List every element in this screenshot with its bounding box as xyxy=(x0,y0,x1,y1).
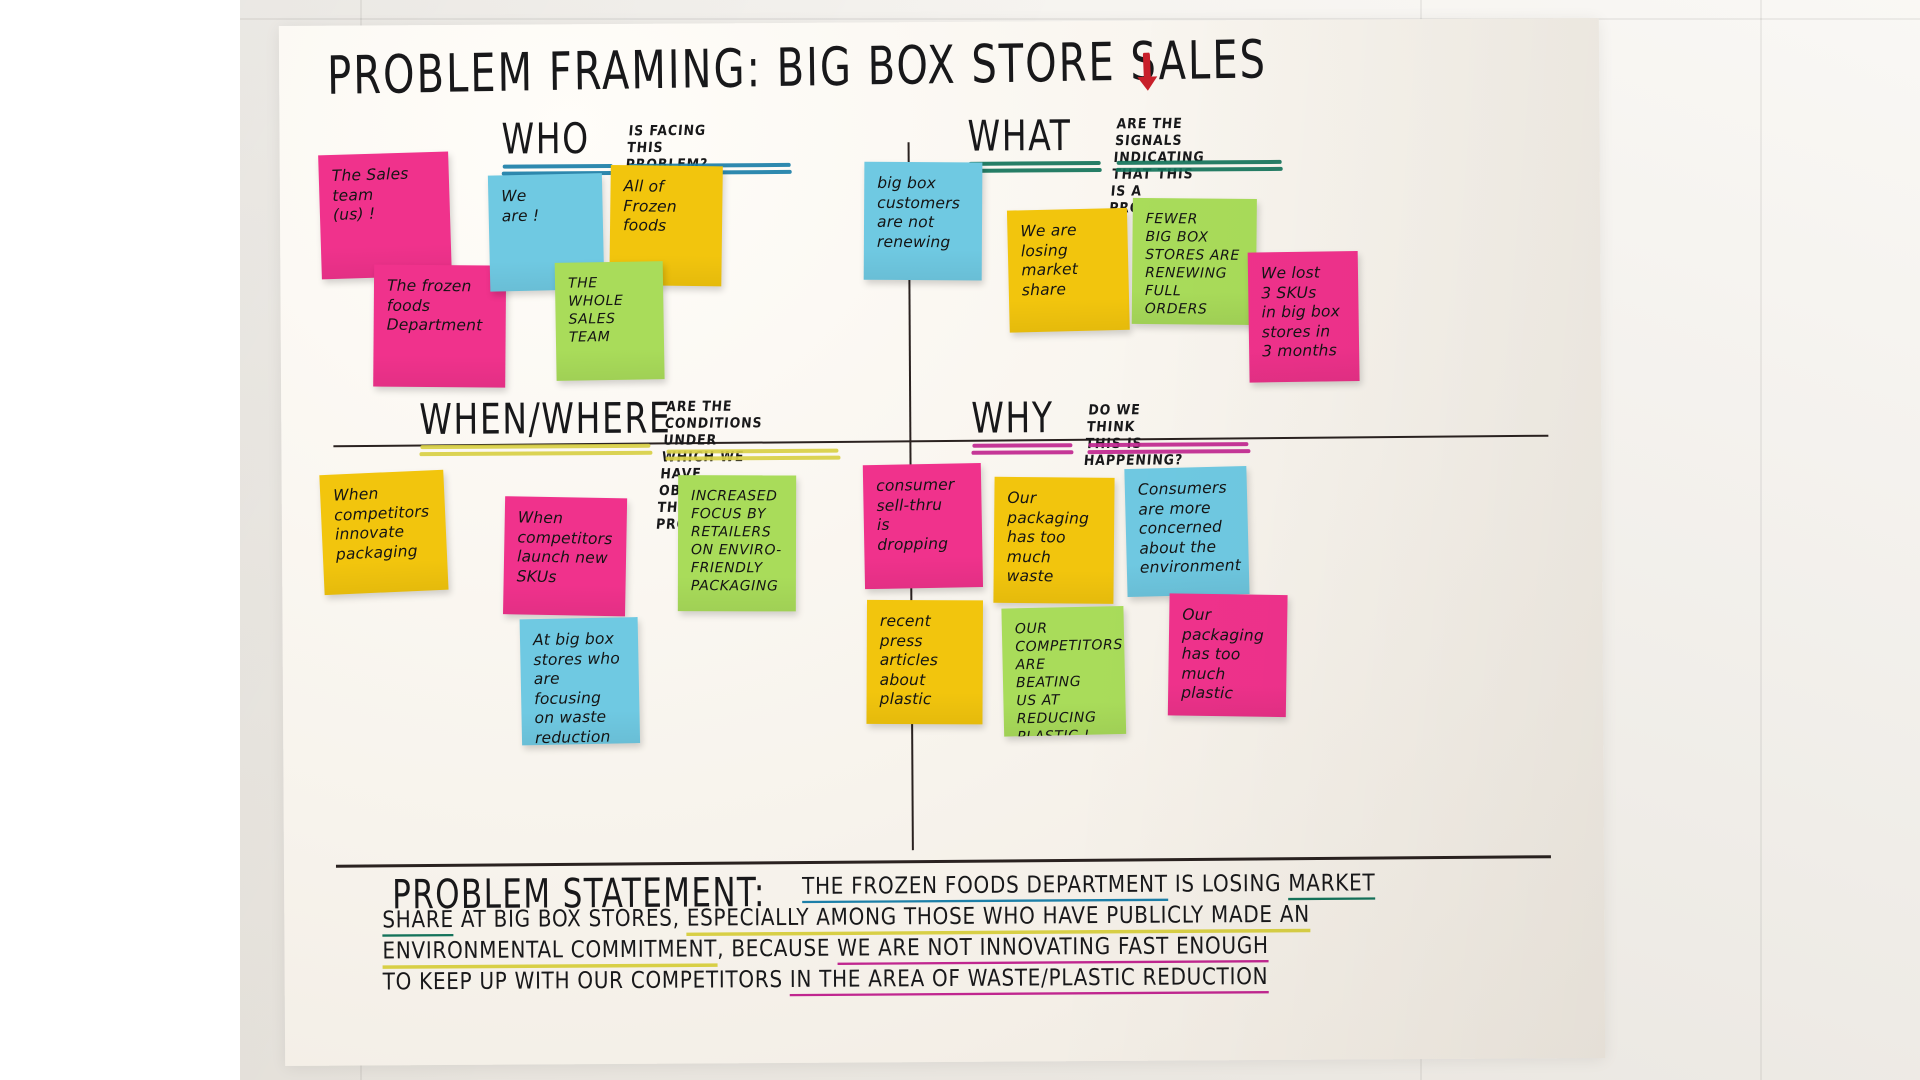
sticky-note[interactable]: The frozen foods Department xyxy=(373,265,506,388)
sticky-note[interactable]: consumer sell-thru is dropping xyxy=(863,463,983,589)
ps-phrase-plain: , BECAUSE xyxy=(717,934,837,963)
photo-area: PROBLEM FRAMING: BIG BOX STORE SALES WHO… xyxy=(240,0,1920,1080)
underline-why-a xyxy=(972,443,1072,447)
sticky-note[interactable]: Our packaging has too much waste xyxy=(993,477,1114,604)
quadrant-word-who: WHO xyxy=(501,113,590,163)
problem-statement-text: THE FROZEN FOODS DEPARTMENT IS LOSING MA… xyxy=(382,866,1543,997)
sticky-note[interactable]: big box customers are not renewing xyxy=(864,162,983,281)
sticky-note[interactable]: OUR COMPETITORS ARE BEATING US AT REDUCI… xyxy=(1001,606,1126,737)
underline-why-q-b xyxy=(1087,449,1250,453)
underline-why-b xyxy=(971,450,1073,454)
sticky-note[interactable]: Our packaging has too much plastic xyxy=(1168,593,1288,717)
underline-when-q-a xyxy=(666,449,838,454)
sticky-note[interactable]: recent press articles about plastic xyxy=(866,600,983,725)
ps-phrase-plain: TO KEEP UP WITH OUR COMPETITORS xyxy=(383,965,790,995)
down-arrow-icon xyxy=(1133,52,1161,93)
flipchart-sheet: PROBLEM FRAMING: BIG BOX STORE SALES WHO… xyxy=(279,18,1605,1066)
ps-phrase-plain: IS LOSING xyxy=(1168,869,1289,898)
quadrant-heading-who: WHO IS FACING THIS PROBLEM? xyxy=(501,124,589,164)
quadrant-heading-what: WHAT ARE THE SIGNALS INDICATING THAT THI… xyxy=(967,121,1071,161)
quadrant-question-why: DO WE THINK THIS IS HAPPENING? xyxy=(1083,400,1188,468)
whiteboard-photo-canvas: PROBLEM FRAMING: BIG BOX STORE SALES WHO… xyxy=(0,0,1920,1080)
underline-who-a xyxy=(503,164,613,168)
quadrant-word-when-where: WHEN/WHERE xyxy=(419,393,671,444)
underline-why-q-a xyxy=(1088,442,1248,446)
underline-what-a xyxy=(969,161,1101,165)
sticky-note[interactable]: We lost 3 SKUs in big box stores in 3 mo… xyxy=(1248,251,1360,383)
underline-what-q-b xyxy=(1116,167,1283,172)
wall-seam xyxy=(1760,0,1762,1080)
quadrant-word-why: WHY xyxy=(971,392,1054,442)
sticky-note[interactable]: FEWER BIG BOX STORES ARE RENEWING FULL O… xyxy=(1132,198,1257,325)
sticky-note[interactable]: THE WHOLE SALES TEAM xyxy=(555,261,665,381)
underline-when-a xyxy=(420,444,650,449)
quadrant-heading-why: WHY DO WE THINK THIS IS HAPPENING? xyxy=(971,403,1054,443)
sticky-note[interactable]: INCREASED FOCUS BY RETAILERS ON ENVIRO- … xyxy=(678,475,796,611)
ps-phrase-plain: AT BIG BOX STORES, xyxy=(454,904,687,933)
underline-what-q-a xyxy=(1117,160,1282,165)
underline-when-b xyxy=(419,451,652,456)
quadrant-heading-when-where: WHEN/WHERE ARE THE CONDITIONS UNDER WHIC… xyxy=(419,404,671,445)
sticky-note[interactable]: When competitors launch new SKUs xyxy=(503,496,627,616)
sticky-note[interactable]: Consumers are more concerned about the e… xyxy=(1124,466,1249,597)
sticky-note[interactable]: The Sales team (us) ! xyxy=(318,151,452,279)
page-title: PROBLEM FRAMING: BIG BOX STORE SALES xyxy=(327,30,1268,107)
sticky-note[interactable]: When competitors innovate packaging xyxy=(319,470,448,595)
underline-what-b xyxy=(968,168,1102,172)
underline-when-q-b xyxy=(665,456,840,461)
sticky-note[interactable]: At big box stores who are focusing on wa… xyxy=(520,617,641,745)
wall-seam xyxy=(240,18,1920,20)
problem-statement-line-4: TO KEEP UP WITH OUR COMPETITORS IN THE A… xyxy=(383,957,1543,1000)
sticky-note[interactable]: We are losing market share xyxy=(1007,208,1130,333)
ps-phrase-why: IN THE AREA OF WASTE/PLASTIC REDUCTION xyxy=(790,962,1269,996)
quadrant-word-what: WHAT xyxy=(967,110,1071,161)
